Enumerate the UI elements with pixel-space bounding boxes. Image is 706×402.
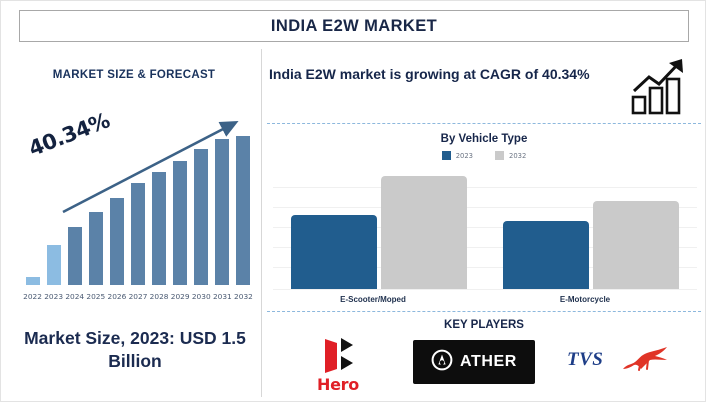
- divider-bottom: [267, 311, 701, 312]
- by-vehicle-type-legend: 20232032: [267, 151, 701, 160]
- market-size-forecast-panel: MARKET SIZE & FORECAST 40.34% 2022202320…: [6, 49, 262, 397]
- vehicle-type-bar: [503, 221, 589, 289]
- by-vehicle-type-chart: [273, 165, 697, 289]
- hero-logo[interactable]: Hero: [295, 335, 381, 395]
- growth-chart-arrow-icon: [631, 57, 693, 115]
- forecast-year-label: 2023: [44, 292, 64, 301]
- forecast-year-label: 2029: [170, 292, 190, 301]
- forecast-bar: [236, 136, 250, 285]
- key-players-row: Hero ATHER TVS: [267, 335, 701, 397]
- vehicle-type-bar: [381, 176, 467, 289]
- forecast-year-label: 2025: [86, 292, 106, 301]
- forecast-bar: [47, 245, 61, 285]
- market-size-statement: Market Size, 2023: USD 1.5 Billion: [14, 327, 256, 373]
- market-size-forecast-title: MARKET SIZE & FORECAST: [6, 69, 262, 81]
- ather-wordmark: ATHER: [460, 353, 517, 371]
- forecast-bar: [215, 139, 229, 285]
- forecast-bar: [89, 212, 103, 285]
- forecast-bar: [131, 183, 145, 285]
- key-players-title: KEY PLAYERS: [267, 319, 701, 331]
- forecast-bar: [173, 161, 187, 285]
- forecast-bar: [194, 149, 208, 285]
- vehicle-type-category-label: E-Motorcycle: [479, 295, 691, 304]
- page-title-bar: INDIA E2W MARKET: [19, 10, 689, 42]
- legend-swatch: [442, 151, 451, 160]
- forecast-year-label: 2026: [107, 292, 127, 301]
- ather-mark-icon: [431, 349, 453, 376]
- forecast-year-label: 2030: [191, 292, 211, 301]
- forecast-bar: [152, 172, 166, 285]
- market-size-forecast-axis-labels: 2022202320242025202620272028202920302031…: [22, 287, 254, 301]
- forecast-year-label: 2027: [128, 292, 148, 301]
- forecast-year-label: 2028: [149, 292, 169, 301]
- legend-label: 2023: [456, 152, 473, 160]
- vehicle-type-category-label: E-Scooter/Moped: [267, 295, 479, 304]
- forecast-year-label: 2024: [65, 292, 85, 301]
- chart-gridline: [273, 187, 697, 188]
- forecast-bar: [68, 227, 82, 285]
- hero-wordmark: Hero: [295, 375, 381, 394]
- legend-item[interactable]: 2032: [495, 151, 526, 160]
- legend-label: 2032: [509, 152, 526, 160]
- infographic-root: INDIA E2W MARKET MARKET SIZE & FORECAST …: [0, 0, 706, 402]
- forecast-year-label: 2031: [212, 292, 232, 301]
- by-vehicle-type-title: By Vehicle Type: [267, 133, 701, 145]
- ather-logo[interactable]: ATHER: [413, 340, 535, 384]
- tvs-logo[interactable]: TVS: [567, 343, 687, 379]
- chart-gridline: [273, 289, 697, 290]
- vehicle-type-bar: [593, 201, 679, 289]
- legend-item[interactable]: 2023: [442, 151, 473, 160]
- page-title: INDIA E2W MARKET: [271, 17, 437, 36]
- tvs-wordmark: TVS: [567, 349, 603, 371]
- divider-top: [267, 123, 701, 124]
- forecast-bar: [26, 277, 40, 285]
- legend-swatch: [495, 151, 504, 160]
- forecast-year-label: 2022: [23, 292, 43, 301]
- right-panel: India E2W market is growing at CAGR of 4…: [267, 49, 701, 397]
- forecast-bar: [110, 198, 124, 285]
- forecast-year-label: 2032: [233, 292, 253, 301]
- vehicle-type-bar: [291, 215, 377, 289]
- cagr-headline: India E2W market is growing at CAGR of 4…: [269, 65, 599, 85]
